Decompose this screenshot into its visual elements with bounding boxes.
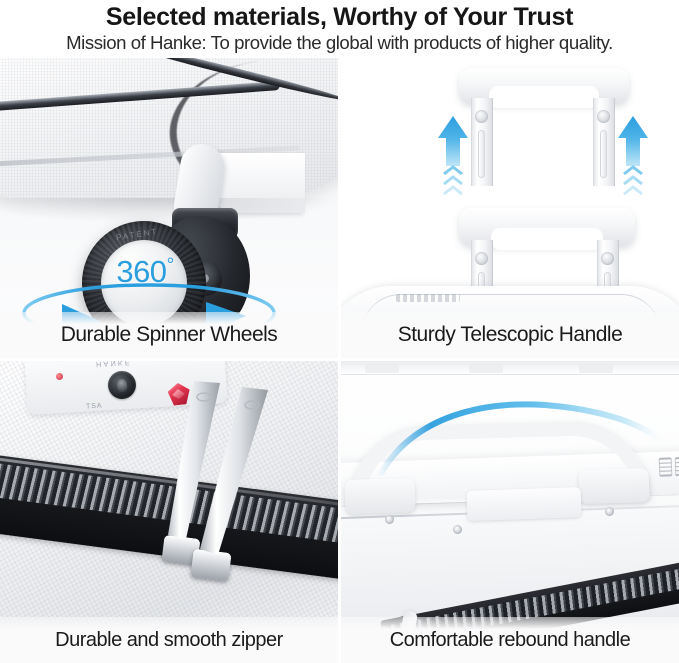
rivet-1 — [385, 515, 394, 524]
caption-zipper: Durable and smooth zipper — [0, 617, 338, 663]
top-strip-block-1 — [365, 363, 399, 373]
handle-release-button-right-extended[interactable] — [597, 110, 610, 123]
caption-telescopic-handle: Sturdy Telescopic Handle — [341, 312, 679, 358]
panel-spinner-wheels: PATENT SPINNER 360° — [0, 58, 338, 358]
top-strip-block-2 — [469, 363, 503, 373]
rivet-4 — [605, 507, 614, 516]
handle-release-button-left-retracted[interactable] — [475, 252, 488, 265]
suitcase-brand-mark — [396, 294, 460, 302]
rotation-degree-badge: 360° — [103, 254, 187, 290]
handle-grip-cutout-retracted — [491, 228, 603, 250]
feature-grid: PATENT SPINNER 360° — [0, 58, 679, 663]
handle-post-slot-left-extended — [478, 130, 485, 178]
infographic-page: Selected materials, Worthy of Your Trust… — [0, 0, 679, 663]
rivet-2 — [453, 525, 462, 534]
tsa-lock-body[interactable] — [467, 487, 582, 521]
handle-release-button-right-retracted[interactable] — [601, 252, 614, 265]
arrow-up-right-icon — [617, 114, 649, 200]
panel-rebound-handle: Comfortable rebound handle — [341, 361, 679, 663]
header: Selected materials, Worthy of Your Trust… — [0, 0, 679, 55]
rebound-arc-graphic — [375, 399, 665, 479]
arrow-up-left-icon — [437, 114, 469, 200]
caption-spinner-wheels: Durable Spinner Wheels — [0, 312, 338, 358]
top-strip-block-3 — [579, 363, 613, 373]
tsa-lock-label: TSA — [86, 402, 103, 410]
handle-post-slot-right-extended — [600, 130, 607, 178]
caption-rebound-handle: Comfortable rebound handle — [341, 617, 679, 663]
panel-zipper: HANKE TSA — [0, 361, 338, 663]
tread-text-top: PATENT — [116, 227, 159, 243]
degree-symbol: ° — [167, 255, 174, 276]
page-subtitle: Mission of Hanke: To provide the global … — [0, 31, 679, 55]
zipper-pull-right[interactable] — [180, 385, 310, 575]
panel-telescopic-handle: Sturdy Telescopic Handle — [341, 58, 679, 358]
handle-grip-cutout-extended — [489, 86, 599, 108]
rotation-degree-value: 360 — [116, 254, 166, 289]
page-title: Selected materials, Worthy of Your Trust — [0, 2, 679, 32]
handle-mount-left — [345, 478, 416, 514]
handle-release-button-left-extended[interactable] — [475, 110, 488, 123]
panel-top-edge-strip — [341, 361, 679, 375]
lock-indicator-dot — [56, 373, 63, 380]
dial-2[interactable] — [675, 457, 679, 476]
